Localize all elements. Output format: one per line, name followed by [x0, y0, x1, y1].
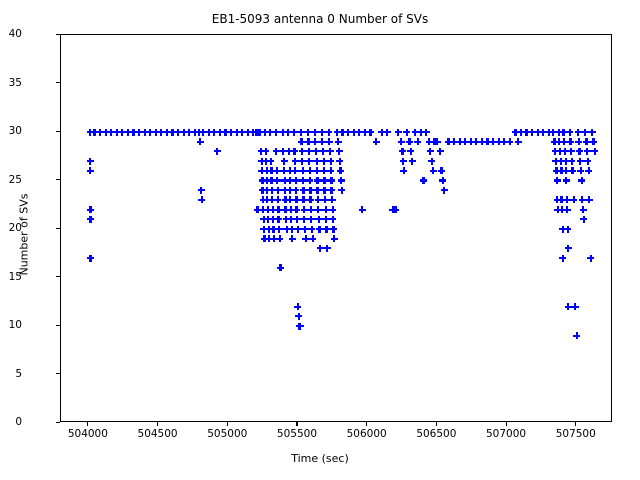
x-axis-label: Time (sec) [0, 452, 640, 465]
x-tick-label: 505500 [277, 428, 317, 440]
x-tick-label: 507000 [486, 428, 526, 440]
x-tick-mark [436, 422, 437, 426]
y-tick-label: 25 [9, 174, 22, 186]
figure: EB1-5093 antenna 0 Number of SVs Number … [0, 0, 640, 480]
x-tick-label: 506500 [416, 428, 456, 440]
y-tick-label: 5 [15, 368, 22, 380]
y-tick-label: 0 [15, 416, 22, 428]
x-tick-mark [296, 422, 297, 426]
y-tick-label: 40 [9, 28, 22, 40]
y-axis-label: Number of SVs [18, 125, 31, 345]
x-tick-label: 504000 [68, 428, 108, 440]
x-tick-mark [227, 422, 228, 426]
x-tick-label: 505000 [207, 428, 247, 440]
x-tick-label: 504500 [138, 428, 178, 440]
y-tick-label: 35 [9, 77, 22, 89]
x-tick-mark [157, 422, 158, 426]
y-tick-label: 20 [9, 222, 22, 234]
y-tick-label: 15 [9, 271, 22, 283]
plot-area [60, 34, 612, 422]
x-tick-mark [506, 422, 507, 426]
chart-title: EB1-5093 antenna 0 Number of SVs [0, 12, 640, 26]
x-tick-mark [366, 422, 367, 426]
x-tick-label: 506000 [347, 428, 387, 440]
x-tick-mark [87, 422, 88, 426]
y-tick-label: 30 [9, 125, 22, 137]
y-tick-label: 10 [9, 319, 22, 331]
x-tick-mark [575, 422, 576, 426]
x-tick-label: 507500 [556, 428, 596, 440]
scatter-series [61, 35, 611, 421]
